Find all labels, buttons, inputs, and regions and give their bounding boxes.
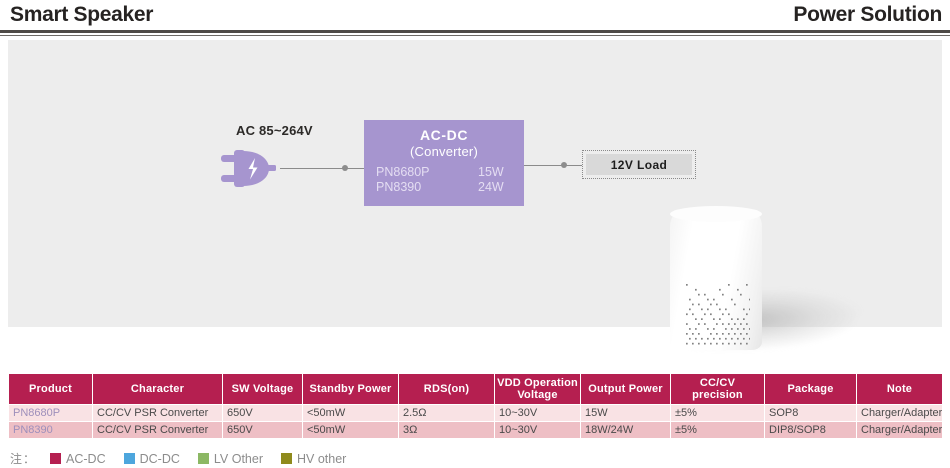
cell-character: CC/CV PSR Converter: [93, 405, 223, 422]
spec-table-container: Product Character SW Voltage Standby Pow…: [8, 373, 942, 439]
legend-item-lv-other: LV Other: [198, 452, 263, 466]
cell-standby-power: <50mW: [303, 422, 399, 439]
cell-sw-voltage: 650V: [223, 405, 303, 422]
cell-note: Charger/Adapter: [857, 422, 943, 439]
legend-item-hv-other: HV other: [281, 452, 346, 466]
cell-package: DIP8/SOP8: [765, 422, 857, 439]
column-header-note[interactable]: Note: [857, 374, 943, 405]
cell-cccv-precision: ±5%: [671, 405, 765, 422]
cell-cccv-precision: ±5%: [671, 422, 765, 439]
cell-vdd-voltage: 10~30V: [495, 405, 581, 422]
converter-part-power: 15W: [478, 165, 512, 180]
converter-subtitle: (Converter): [364, 144, 524, 159]
cell-output-power: 15W: [581, 405, 671, 422]
load-block: 12V Load: [582, 150, 696, 179]
converter-part-row: PN8680P 15W: [376, 165, 512, 180]
cell-package: SOP8: [765, 405, 857, 422]
load-label: 12V Load: [586, 154, 692, 175]
column-header-character[interactable]: Character: [93, 374, 223, 405]
table-row: PN8390 CC/CV PSR Converter 650V <50mW 3Ω…: [9, 422, 943, 439]
legend-item-label: HV other: [297, 452, 346, 466]
ac-dc-converter-block: AC-DC (Converter) PN8680P 15W PN8390 24W: [364, 120, 524, 206]
cell-sw-voltage: 650V: [223, 422, 303, 439]
cell-product: PN8390: [9, 422, 93, 439]
page-subtitle: Power Solution: [793, 3, 942, 27]
table-row: PN8680P CC/CV PSR Converter 650V <50mW 2…: [9, 405, 943, 422]
spec-table: Product Character SW Voltage Standby Pow…: [8, 373, 943, 439]
converter-part-name: PN8390: [376, 180, 421, 195]
legend-item-label: DC-DC: [140, 452, 180, 466]
column-header-cccv-precision[interactable]: CC/CV precision: [671, 374, 765, 405]
column-header-product[interactable]: Product: [9, 374, 93, 405]
column-header-vdd-voltage[interactable]: VDD Operation Voltage: [495, 374, 581, 405]
legend-swatch-icon: [50, 453, 61, 464]
converter-title: AC-DC: [364, 127, 524, 143]
cell-rds-on: 2.5Ω: [399, 405, 495, 422]
legend-item-label: AC-DC: [66, 452, 106, 466]
converter-part-power: 24W: [478, 180, 512, 195]
cell-character: CC/CV PSR Converter: [93, 422, 223, 439]
legend-swatch-icon: [281, 453, 292, 464]
power-plug-icon: [221, 148, 281, 190]
ac-input-label: AC 85~264V: [236, 123, 313, 138]
speaker-grille: [684, 282, 750, 346]
wire-converter-to-load: [524, 165, 582, 166]
legend-swatch-icon: [124, 453, 135, 464]
column-header-standby-power[interactable]: Standby Power: [303, 374, 399, 405]
diagram-panel: AC 85~264V AC-DC (Converter) PN8680P 15W…: [8, 40, 942, 327]
wire-plug-to-converter: [280, 168, 364, 169]
legend: 注： AC-DC DC-DC LV Other HV other: [10, 450, 364, 467]
cell-output-power: 18W/24W: [581, 422, 671, 439]
cell-vdd-voltage: 10~30V: [495, 422, 581, 439]
legend-item-ac-dc: AC-DC: [50, 452, 106, 466]
cell-rds-on: 3Ω: [399, 422, 495, 439]
smart-speaker-photo: [628, 200, 928, 370]
column-header-rds-on[interactable]: RDS(on): [399, 374, 495, 405]
column-header-output-power[interactable]: Output Power: [581, 374, 671, 405]
cell-standby-power: <50mW: [303, 405, 399, 422]
speaker-top-cap: [670, 206, 762, 222]
table-header-row: Product Character SW Voltage Standby Pow…: [9, 374, 943, 405]
converter-part-name: PN8680P: [376, 165, 430, 180]
converter-part-row: PN8390 24W: [376, 180, 512, 195]
wire-node-right: [561, 162, 567, 168]
column-header-package[interactable]: Package: [765, 374, 857, 405]
legend-note-label: 注：: [10, 450, 36, 467]
legend-item-label: LV Other: [214, 452, 263, 466]
header-divider-thin: [0, 35, 950, 36]
column-header-sw-voltage[interactable]: SW Voltage: [223, 374, 303, 405]
wire-node-left: [342, 165, 348, 171]
page-title: Smart Speaker: [10, 3, 153, 27]
cell-product: PN8680P: [9, 405, 93, 422]
converter-part-list: PN8680P 15W PN8390 24W: [364, 165, 524, 195]
page-header: Smart Speaker Power Solution: [0, 0, 950, 30]
header-divider-thick: [0, 30, 950, 33]
cell-note: Charger/Adapter: [857, 405, 943, 422]
legend-swatch-icon: [198, 453, 209, 464]
legend-item-dc-dc: DC-DC: [124, 452, 180, 466]
